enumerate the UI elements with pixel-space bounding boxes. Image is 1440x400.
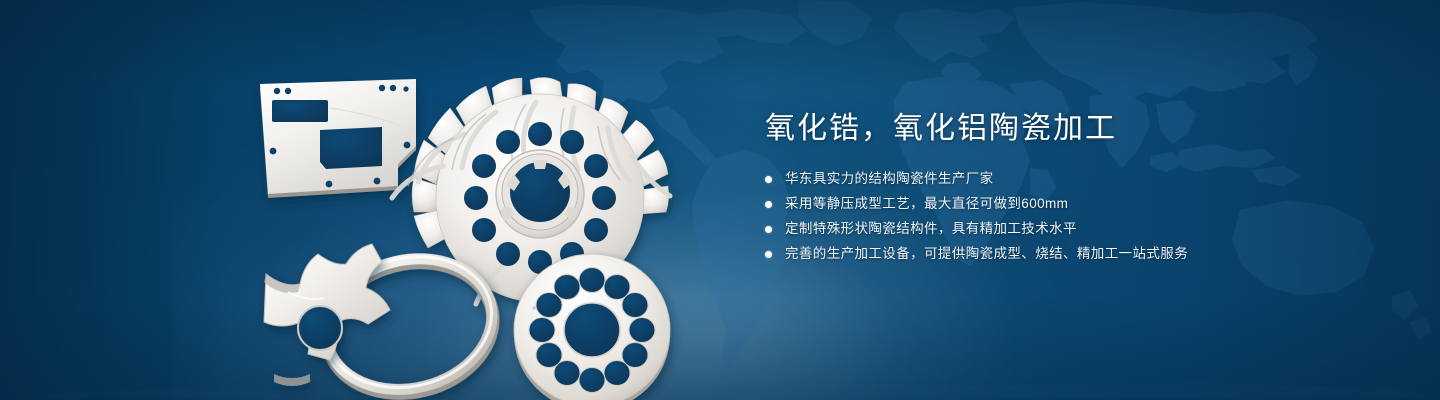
bullet-dot-icon [765, 226, 772, 233]
ceramic-perforated-disc [514, 254, 670, 400]
list-item: 采用等静压成型工艺，最大直径可做到600mm [765, 193, 1385, 215]
list-item: 定制特殊形状陶瓷结构件，具有精加工技术水平 [765, 218, 1385, 240]
hero-banner: 氧化锆，氧化铝陶瓷加工 华东具实力的结构陶瓷件生产厂家 采用等静压成型工艺，最大… [0, 0, 1440, 400]
bullet-dot-icon [765, 201, 772, 208]
list-item: 完善的生产加工设备，可提供陶瓷成型、烧结、精加工一站式服务 [765, 243, 1385, 265]
feature-text: 完善的生产加工设备，可提供陶瓷成型、烧结、精加工一站式服务 [785, 243, 1188, 265]
bullet-dot-icon [765, 251, 772, 258]
feature-list: 华东具实力的结构陶瓷件生产厂家 采用等静压成型工艺，最大直径可做到600mm 定… [765, 168, 1385, 265]
bullet-dot-icon [765, 176, 772, 183]
ceramic-mounting-plate [260, 79, 416, 198]
feature-text: 定制特殊形状陶瓷结构件，具有精加工技术水平 [785, 218, 1077, 240]
banner-text-block: 氧化锆，氧化铝陶瓷加工 华东具实力的结构陶瓷件生产厂家 采用等静压成型工艺，最大… [765, 108, 1385, 268]
feature-text: 华东具实力的结构陶瓷件生产厂家 [785, 168, 994, 190]
list-item: 华东具实力的结构陶瓷件生产厂家 [765, 168, 1385, 190]
ceramic-cross-vane [264, 244, 390, 386]
page-title: 氧化锆，氧化铝陶瓷加工 [765, 108, 1385, 150]
ceramic-products-image [230, 38, 690, 386]
feature-text: 采用等静压成型工艺，最大直径可做到600mm [785, 193, 1068, 215]
